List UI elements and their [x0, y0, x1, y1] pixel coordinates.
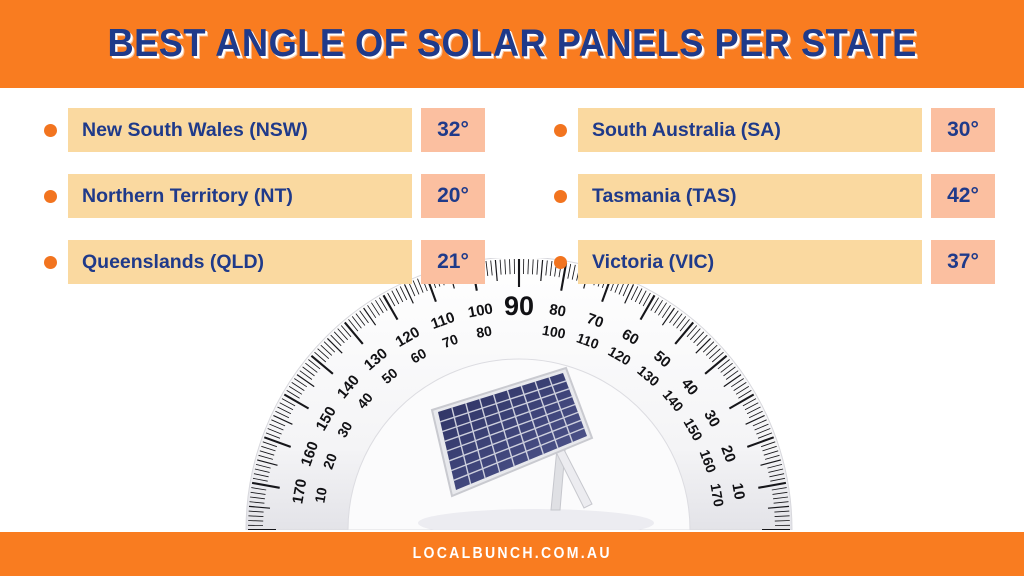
angle-value: 21°: [421, 240, 485, 284]
list-item[interactable]: Tasmania (TAS) 42°: [542, 174, 1024, 218]
svg-text:80: 80: [548, 301, 567, 321]
svg-text:10: 10: [311, 486, 329, 504]
bullet-wrap: [542, 190, 578, 203]
bullet-dot-icon: [554, 190, 567, 203]
list-item[interactable]: Victoria (VIC) 37°: [542, 240, 1024, 284]
protractor-with-solar-panel-illustration: 1701016020150301404013050120601107010080…: [236, 258, 802, 532]
bullet-wrap: [542, 124, 578, 137]
left-column: New South Wales (NSW) 32° Northern Terri…: [0, 88, 512, 288]
angle-value: 37°: [931, 240, 995, 284]
state-label: Tasmania (TAS): [578, 174, 922, 218]
bullet-dot-icon: [44, 124, 57, 137]
list-item[interactable]: Northern Territory (NT) 20°: [32, 174, 512, 218]
bullet-wrap: [542, 256, 578, 269]
bullet-dot-icon: [554, 124, 567, 137]
angle-value: 42°: [931, 174, 995, 218]
bullet-dot-icon: [44, 190, 57, 203]
page-title: BEST ANGLE OF SOLAR PANELS PER STATE: [107, 22, 916, 66]
angle-value: 30°: [931, 108, 995, 152]
angle-value: 20°: [421, 174, 485, 218]
svg-text:80: 80: [475, 322, 493, 340]
footer-url: LOCALBUNCH.COM.AU: [412, 545, 611, 563]
list-item[interactable]: New South Wales (NSW) 32°: [32, 108, 512, 152]
state-angle-list: New South Wales (NSW) 32° Northern Terri…: [0, 88, 1024, 288]
angle-value: 32°: [421, 108, 485, 152]
state-label: New South Wales (NSW): [68, 108, 412, 152]
state-label: Victoria (VIC): [578, 240, 922, 284]
bullet-wrap: [32, 190, 68, 203]
header-band: BEST ANGLE OF SOLAR PANELS PER STATE: [0, 0, 1024, 88]
footer-band: LOCALBUNCH.COM.AU: [0, 532, 1024, 576]
bullet-wrap: [32, 256, 68, 269]
state-label: Queenslands (QLD): [68, 240, 412, 284]
list-item[interactable]: Queenslands (QLD) 21°: [32, 240, 512, 284]
bullet-dot-icon: [44, 256, 57, 269]
right-column: South Australia (SA) 30° Tasmania (TAS) …: [512, 88, 1024, 288]
list-item[interactable]: South Australia (SA) 30°: [542, 108, 1024, 152]
state-label: South Australia (SA): [578, 108, 922, 152]
bullet-dot-icon: [554, 256, 567, 269]
svg-text:10: 10: [728, 482, 748, 501]
state-label: Northern Territory (NT): [68, 174, 412, 218]
bullet-wrap: [32, 124, 68, 137]
